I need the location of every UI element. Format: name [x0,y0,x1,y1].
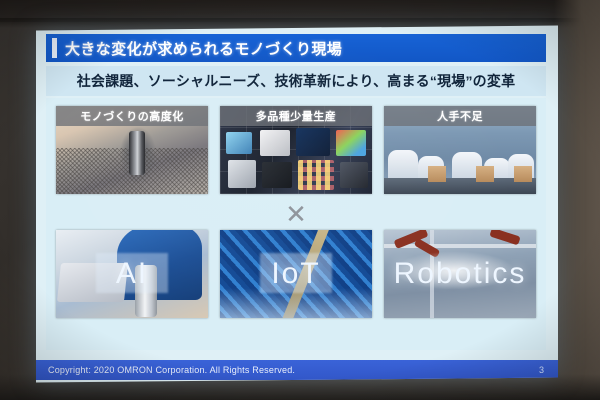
page-number: 3 [539,365,544,375]
overlay-label-iot: IoT [220,257,372,291]
mesh-surface [56,148,208,194]
device-screen [260,130,290,156]
carton-box [428,166,446,182]
multiplication-symbol: ✕ [46,202,546,226]
card-caption: 多品種少量生産 [220,106,372,126]
card-caption: 人手不足 [384,106,536,126]
overlay-label-robotics: Robotics [384,257,536,291]
room-wall-right [554,0,600,400]
card-robotics: Robotics [384,230,536,318]
slide-subtitle: 社会課題、ソーシャルニーズ、技術革新により、高まる“現場”の変革 [77,71,516,91]
projected-slide: 大きな変化が求められるモノづくり現場 社会課題、ソーシャルニーズ、技術革新により… [36,25,558,382]
carton-box [514,166,532,182]
slide-content: モノづくりの高度化 多品種少量生産 [46,98,546,350]
card-iot: IoT [220,230,372,318]
device-screen [298,160,334,190]
device-screen [228,160,256,188]
device-screen [336,130,366,156]
card-ai: AI [56,230,208,318]
card-high-mix-low-volume: 多品種少量生産 [220,106,372,194]
device-screen [262,162,292,188]
copyright-text: Copyright: 2020 OMRON Corporation. All R… [48,365,295,375]
top-card-row: モノづくりの高度化 多品種少量生産 [56,106,536,194]
slide-title-bar: 大きな変化が求められるモノづくり現場 [46,34,546,62]
overlay-label-ai: AI [56,257,208,291]
card-labor-shortage: 人手不足 [384,106,536,194]
carton-box [476,166,494,182]
slide-title: 大きな変化が求められるモノづくり現場 [65,38,342,59]
bottom-card-row: AI IoT [56,230,536,318]
device-screen [226,132,252,154]
projection-photo: 大きな変化が求められるモノづくり現場 社会課題、ソーシャルニーズ、技術革新により… [0,0,600,400]
device-screen [296,128,330,156]
slide-subtitle-band: 社会課題、ソーシャルニーズ、技術革新により、高まる“現場”の変革 [46,66,546,96]
slide-footer: Copyright: 2020 OMRON Corporation. All R… [36,360,558,380]
card-caption: モノづくりの高度化 [56,106,208,126]
title-accent-mark [52,38,57,58]
device-screen [340,162,368,188]
card-monozukuri-advancement: モノづくりの高度化 [56,106,208,194]
